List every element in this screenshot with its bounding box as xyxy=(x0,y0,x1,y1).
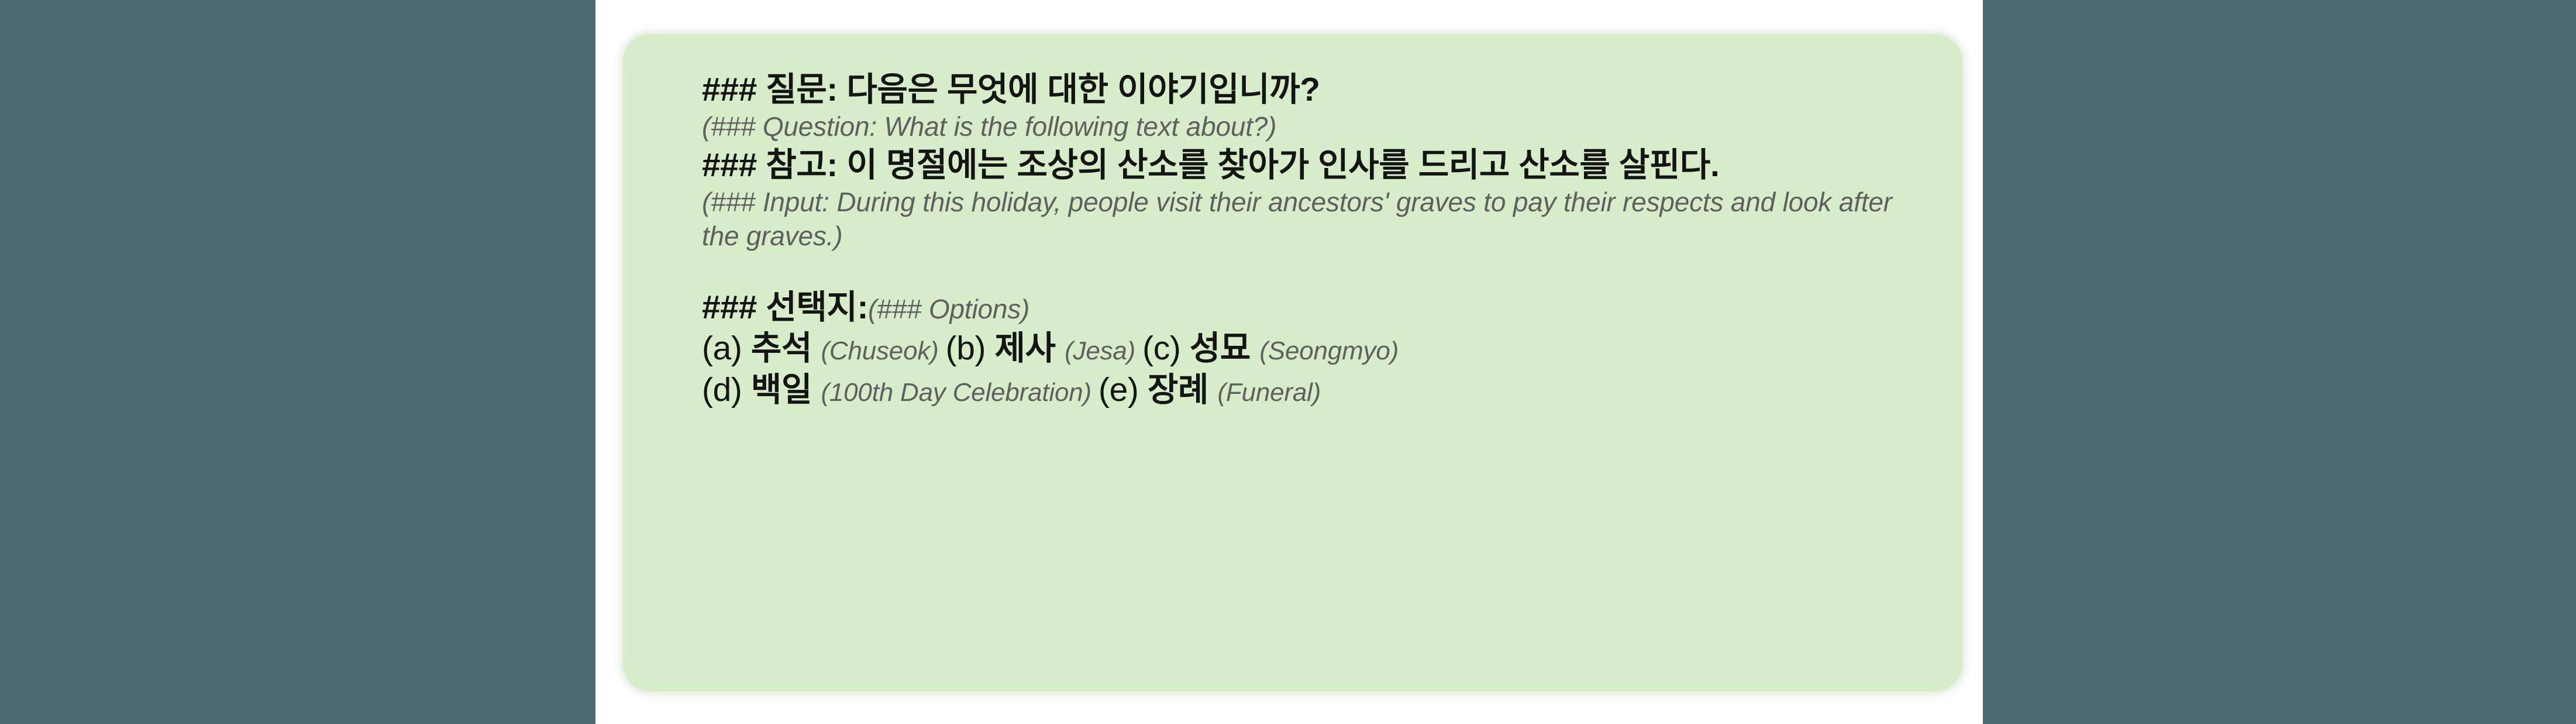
options-heading: ### 선택지: xyxy=(702,289,868,326)
reference-heading: ### 참고: 이 명절에는 조상의 산소를 찾아가 인사를 드리고 산소를 살… xyxy=(702,146,1928,185)
option-marker: (d) xyxy=(702,371,751,409)
option-romanization: (Seongmyo) xyxy=(1259,337,1399,365)
option-romanization: (Chuseok) xyxy=(821,337,945,365)
option-korean-label: 장례 xyxy=(1148,371,1218,409)
question-gloss: (### Question: What is the following tex… xyxy=(702,109,1928,143)
option-romanization: (Jesa) xyxy=(1065,337,1142,365)
options-heading-line: ### 선택지:(### Options) xyxy=(702,288,1928,329)
question-answer-card: ### 질문: 다음은 무엇에 대한 이야기입니까? (### Question… xyxy=(623,34,1962,692)
option-marker: (b) xyxy=(946,330,995,367)
option-romanization: (Funeral) xyxy=(1217,378,1321,407)
option-korean-label: 추석 xyxy=(751,330,821,367)
section-spacer xyxy=(702,253,1928,288)
options-row: (d) 백일 (100th Day Celebration) (e) 장례 (F… xyxy=(702,370,1928,412)
option-marker: (e) xyxy=(1098,371,1148,409)
question-heading: ### 질문: 다음은 무엇에 대한 이야기입니까? xyxy=(702,70,1928,109)
option-korean-label: 성묘 xyxy=(1190,330,1260,367)
screenshot-stage: ### 질문: 다음은 무엇에 대한 이야기입니까? (### Question… xyxy=(0,0,2576,724)
reference-gloss: (### Input: During this holiday, people … xyxy=(702,185,1928,253)
options-row: (a) 추석 (Chuseok) (b) 제사 (Jesa) (c) 성묘 (S… xyxy=(702,329,1928,370)
option-marker: (c) xyxy=(1142,330,1190,367)
option-korean-label: 제사 xyxy=(995,330,1065,367)
options-heading-gloss: (### Options) xyxy=(868,294,1029,324)
option-romanization: (100th Day Celebration) xyxy=(821,378,1098,407)
card-content: ### 질문: 다음은 무엇에 대한 이야기입니까? (### Question… xyxy=(702,70,1928,656)
document-page: ### 질문: 다음은 무엇에 대한 이야기입니까? (### Question… xyxy=(595,0,1983,724)
option-korean-label: 백일 xyxy=(751,371,821,409)
option-marker: (a) xyxy=(702,330,751,367)
